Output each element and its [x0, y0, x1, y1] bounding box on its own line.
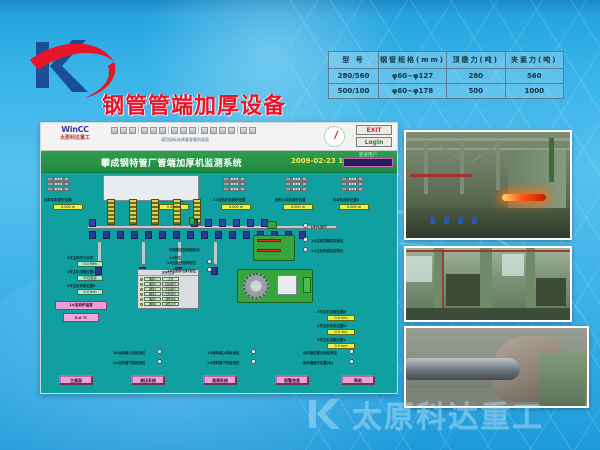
press-cylinder-4	[213, 241, 218, 265]
cell-upset-1: 280	[447, 69, 506, 84]
toolbar-divider-4	[237, 126, 238, 134]
hmi-screenshot: WinCC 太原科达重工	[40, 122, 398, 394]
meter-unit	[240, 182, 245, 186]
watermark-text: 太原科达重工	[352, 392, 544, 436]
alarm-dot	[140, 303, 143, 306]
meter-cap	[285, 177, 291, 181]
roller-upper	[89, 219, 96, 227]
status-label-in-lower: 1#进料槽下料检测位	[207, 360, 239, 365]
roller	[131, 231, 138, 239]
group-label-0: 出料车机械手位置Ⅰ	[44, 197, 72, 202]
meter-unit	[64, 187, 69, 191]
furnace-temp-value: 0.0 ℃	[63, 313, 99, 322]
roller	[201, 231, 208, 239]
meter-cap	[341, 187, 347, 191]
meter-cap	[341, 177, 347, 181]
align-icon[interactable]	[219, 127, 226, 134]
page-title: 钢管管端加厚设备	[102, 88, 286, 120]
status-led-trough-fb	[349, 349, 354, 354]
meter-field: 0.0	[292, 177, 301, 181]
roller-upper	[233, 219, 240, 227]
nav-button-help[interactable]: 帮助	[341, 375, 375, 385]
meter-field: 0.0	[230, 177, 239, 181]
meter-group-left: 0.0 0.0 0.0	[47, 177, 71, 193]
status-led-out-lower	[157, 359, 162, 364]
alarm-row: 故障6油温正常	[140, 302, 196, 306]
hall-floor	[406, 308, 570, 320]
watermark: 太原科达重工	[306, 392, 544, 436]
roller	[229, 231, 236, 239]
status-label-furnace-in: 1#加热炉进料到位	[167, 260, 196, 265]
spec-header-pipe-size: 钢管规格(mm)	[379, 52, 447, 69]
hydraulic-line-2	[257, 249, 281, 252]
roller-upper	[247, 219, 254, 227]
blue-fitting	[458, 217, 463, 224]
settings-icon[interactable]	[249, 127, 256, 134]
green-machine-side	[539, 354, 585, 406]
wincc-logo-sub: 太原科达重工	[44, 134, 106, 141]
roller	[103, 231, 110, 239]
meter-unit	[358, 182, 363, 186]
main-gear	[243, 273, 269, 299]
group-label-1: 料车机械手位置Ⅱ	[333, 197, 359, 202]
status-led-lev1	[303, 223, 308, 228]
zoom-icon[interactable]	[189, 127, 196, 134]
hmi-title-bar: 攀成钢特管厂管端加厚机监测系统 2009-02-23 14:29:24 登录用户	[41, 151, 397, 173]
status-led-trough-pos	[349, 359, 354, 364]
alarm-state: 油泵启动	[162, 297, 179, 301]
blue-fitting	[472, 217, 477, 224]
cut-icon[interactable]	[141, 127, 148, 134]
alarm-state: 手动运行	[162, 287, 179, 291]
nav-button-main[interactable]: 主画面	[59, 375, 93, 385]
hall-window	[406, 256, 432, 282]
meter-field: 0.0	[292, 182, 301, 186]
roller	[89, 231, 96, 239]
hmi-mimic-diagram: 0.0 0.0 0.0 出料车机械手位置Ⅰ 0.000 m 0.0 0.0 0.…	[41, 173, 397, 394]
meter-field: 0.0	[292, 187, 301, 191]
help-icon[interactable]	[240, 127, 247, 134]
group-label-5: 进料小车机械手位置	[275, 197, 306, 202]
gauge-icon	[324, 126, 345, 147]
copy-icon[interactable]	[150, 127, 157, 134]
conveyor-rail	[87, 225, 337, 229]
wincc-logo-text: WinCC	[44, 125, 106, 134]
roller	[215, 231, 222, 239]
meter-cap	[285, 182, 291, 186]
alarm-row: 故障5油泵启动	[140, 297, 196, 301]
nav-button-alarm[interactable]: 报警信息	[275, 375, 309, 385]
meter-unit	[358, 187, 363, 191]
furnace-column-1	[107, 199, 115, 225]
group-value-3: 0.000 m	[221, 204, 251, 210]
hmi-toolbar: WinCC 太原科达重工	[41, 123, 397, 151]
status-led-upset-front	[303, 237, 308, 242]
main-param-label-5: 5号主机顶镦位置Ⅴ	[317, 337, 346, 342]
hmi-user-field[interactable]	[343, 158, 393, 167]
redo-icon[interactable]	[180, 127, 187, 134]
meter-unit	[240, 177, 245, 181]
drive-motor	[303, 277, 311, 293]
status-led-in-lower	[251, 359, 256, 364]
status-label-trough-pos: 出料槽运行位置(米)	[303, 360, 333, 365]
alarm-dot	[140, 288, 143, 291]
roller-upper	[205, 219, 212, 227]
nav-button-lubrication[interactable]: 润滑系统	[203, 375, 237, 385]
group-label-3: 2#加热炉机械手位置	[213, 197, 245, 202]
meter-field: 0.0	[54, 187, 63, 191]
meter-group-right: 0.0 0.0 0.0	[341, 177, 365, 193]
main-param-value-0: 0.0 MPa	[77, 261, 103, 267]
furnace-column-2	[129, 199, 137, 225]
main-param-label-2: 2号主机夹紧位置Ⅱ	[67, 283, 95, 288]
meter-field: 0.0	[230, 187, 239, 191]
open-icon[interactable]	[111, 127, 118, 134]
furnace-column-3	[151, 199, 159, 225]
steel-pipe	[404, 358, 520, 380]
group-value-0: 0.000 m	[53, 204, 83, 210]
cylinder-base-1	[95, 267, 102, 275]
roof-beam	[406, 138, 570, 141]
meter-cap	[47, 182, 53, 186]
alarm-state: 自动运行	[162, 282, 179, 286]
alarm-name: 故障5	[144, 297, 161, 301]
status-led-clamp-front	[303, 247, 308, 252]
hot-upsetting-press-photo	[404, 130, 572, 240]
vertical-pipe	[549, 138, 554, 182]
support-post	[424, 140, 428, 194]
cylinder-base-4	[211, 267, 218, 275]
toolbar-divider-1	[138, 126, 139, 134]
alarm-dot	[140, 283, 143, 286]
print-icon[interactable]	[129, 127, 136, 134]
meter-field: 0.0	[348, 177, 357, 181]
status-led-furnace-in	[207, 259, 212, 264]
main-param-value-2: 0.0 mm	[77, 289, 103, 295]
cell-clamp-2: 1000	[505, 84, 564, 99]
wincc-logo: WinCC 太原科达重工	[44, 125, 106, 141]
roller	[117, 231, 124, 239]
meter-unit	[358, 177, 363, 181]
exit-button[interactable]: EXIT	[356, 125, 392, 135]
meter-cap	[223, 187, 229, 191]
cell-model-2: 500/100	[329, 84, 379, 99]
alarm-row: 故障4急停复位	[140, 292, 196, 296]
status-led-in-upper	[251, 349, 256, 354]
main-param-value-3: 0.0 mm	[327, 315, 355, 321]
alarm-row: 故障1正常	[140, 277, 196, 281]
photo-2-content	[406, 248, 570, 320]
meter-unit	[302, 187, 307, 191]
save-icon[interactable]	[120, 127, 127, 134]
meter-unit	[64, 177, 69, 181]
alarm-state: 正常	[162, 277, 179, 281]
roller	[145, 231, 152, 239]
alarm-row: 故障2自动运行	[140, 282, 196, 286]
red-beam	[406, 250, 570, 252]
hmi-toolbar-icons[interactable]	[111, 126, 256, 134]
roller-upper	[219, 219, 226, 227]
meter-group-3: 0.0 0.0 0.0	[223, 177, 247, 193]
undo-icon[interactable]	[171, 127, 178, 134]
status-label-out-upper: 1#出料槽上料检测位	[113, 350, 145, 355]
meter-field: 0.0	[54, 182, 63, 186]
red-pipe-rack	[410, 174, 472, 177]
brand-block: 钢管管端加厚设备	[28, 36, 328, 98]
main-param-label-0: 1号主机压力设定	[67, 255, 93, 260]
roller	[243, 231, 250, 239]
alarm-panel: 报警信息 故障1正常 故障2自动运行 故障3手动运行 故障4急停复位 故障5油泵…	[137, 269, 199, 309]
alarm-state: 油温正常	[162, 302, 179, 306]
blue-fitting	[444, 217, 449, 224]
spec-header-model: 型 号	[329, 52, 379, 69]
meter-unit	[64, 182, 69, 186]
meter-field: 0.0	[348, 182, 357, 186]
status-label-furnace-out: 1#加热炉出料到位	[167, 268, 196, 273]
alarm-name: 故障4	[144, 292, 161, 296]
table-row: 280/560 φ60~φ127 280 560	[329, 69, 564, 84]
machine-mass	[446, 274, 480, 306]
cell-pipe-1: φ60~φ127	[379, 69, 447, 84]
spec-header-upset-force: 顶镦力(吨)	[447, 52, 506, 69]
furnace-column-4	[173, 199, 181, 225]
machine-mass	[536, 278, 566, 306]
status-label-in-upper: 1#进料槽上料检测位	[207, 350, 239, 355]
furnace-temp-label: 1#加热炉温度	[55, 301, 107, 310]
hydraulic-line-1	[257, 239, 281, 242]
alarm-row: 故障3手动运行	[140, 287, 196, 291]
toolbar-divider-2	[168, 126, 169, 134]
roller	[173, 231, 180, 239]
meter-cap	[285, 187, 291, 191]
table-row: 500/100 φ60~φ178 500 1000	[329, 84, 564, 99]
support-post	[460, 140, 464, 194]
hmi-toolbar-caption: 请用鼠标选择要查看的画面	[161, 137, 209, 143]
meter-unit	[240, 187, 245, 191]
spec-header-clamp-force: 夹紧力(吨)	[505, 52, 564, 69]
nav-button-hydraulic[interactable]: 液压系统	[131, 375, 165, 385]
meter-group-4: 0.0 0.0 0.0	[285, 177, 309, 193]
spec-table: 型 号 钢管规格(mm) 顶镦力(吨) 夹紧力(吨) 280/560 φ60~φ…	[328, 51, 564, 99]
machinery-hall-photo	[404, 246, 572, 322]
main-param-label-3: 3号主机顶镦位置Ⅲ	[317, 309, 346, 314]
alarm-name: 故障6	[144, 302, 161, 306]
cell-clamp-1: 560	[505, 69, 564, 84]
status-led-furnace-out	[207, 267, 212, 272]
status-label-out-lower: 1#出料槽下料检测位	[113, 360, 145, 365]
cell-upset-2: 500	[447, 84, 506, 99]
main-param-label-1: 1号主机顶镦位置Ⅰ	[67, 269, 94, 274]
main-param-value-4: 0.0 mm	[327, 329, 355, 335]
meter-field: 0.0	[230, 182, 239, 186]
press-cylinder-2	[141, 241, 146, 265]
meter-field: 0.0	[348, 187, 357, 191]
support-post	[496, 140, 500, 190]
hall-window	[502, 254, 524, 276]
roller	[159, 231, 166, 239]
alarm-dot	[140, 293, 143, 296]
meter-cap	[341, 182, 347, 186]
status-label-trough-fb: 出料槽位置反馈检测位	[303, 350, 337, 355]
main-param-value-1: 中位锁定	[77, 275, 103, 281]
grid-icon[interactable]	[201, 127, 208, 134]
motor-indicator	[267, 221, 277, 229]
meter-cap	[47, 187, 53, 191]
group-value-5: 0.000 m	[283, 204, 313, 210]
alarm-name: 故障1	[144, 277, 161, 281]
kd-watermark-logo-icon	[306, 396, 346, 432]
furnace-body	[103, 175, 199, 201]
alarm-name: 故障3	[144, 287, 161, 291]
spec-table-header-row: 型 号 钢管规格(mm) 顶镦力(吨) 夹紧力(吨)	[329, 52, 564, 69]
poster-page: 钢管管端加厚设备 型 号 钢管规格(mm) 顶镦力(吨) 夹紧力(吨) 280/…	[0, 0, 600, 450]
hmi-system-title: 攀成钢特管厂管端加厚机监测系统	[101, 156, 242, 169]
alarm-name: 故障2	[144, 282, 161, 286]
machine-panel	[277, 275, 297, 295]
status-led-out-upper	[157, 349, 162, 354]
cell-model-1: 280/560	[329, 69, 379, 84]
group-value-1: 0.000 m	[339, 204, 369, 210]
alarm-state: 急停复位	[162, 292, 179, 296]
meter-field: 0.0	[54, 177, 63, 181]
status-label-clamp-front: 1#主机夹紧缸前限位	[311, 248, 343, 253]
roller	[187, 231, 194, 239]
meter-cap	[223, 177, 229, 181]
status-label-heater: 中频感应加热器启动	[169, 247, 200, 252]
main-param-label-4: 4号主机夹紧位置Ⅳ	[317, 323, 347, 328]
run-icon[interactable]	[228, 127, 235, 134]
layer-icon[interactable]	[210, 127, 217, 134]
meter-cap	[223, 182, 229, 186]
blue-fitting	[430, 217, 435, 224]
valve-indicator	[189, 217, 195, 225]
glowing-hot-pipe	[502, 194, 546, 201]
paste-icon[interactable]	[159, 127, 166, 134]
meter-unit	[302, 177, 307, 181]
meter-cap	[47, 177, 53, 181]
brace	[472, 144, 498, 162]
status-label-lev1: Lev1运行	[311, 224, 327, 229]
alarm-dot	[140, 298, 143, 301]
login-button[interactable]: Login	[356, 137, 392, 147]
meter-unit	[302, 182, 307, 186]
cell-pipe-2: φ60~φ178	[379, 84, 447, 99]
red-pipe	[442, 252, 444, 308]
photo-1-content	[406, 132, 570, 238]
toolbar-divider-3	[198, 126, 199, 134]
alarm-dot	[140, 278, 143, 281]
status-label-upset-front: 1#主机顶镦缸前限位	[311, 238, 343, 243]
hmi-user-block: 登录用户	[343, 152, 393, 167]
